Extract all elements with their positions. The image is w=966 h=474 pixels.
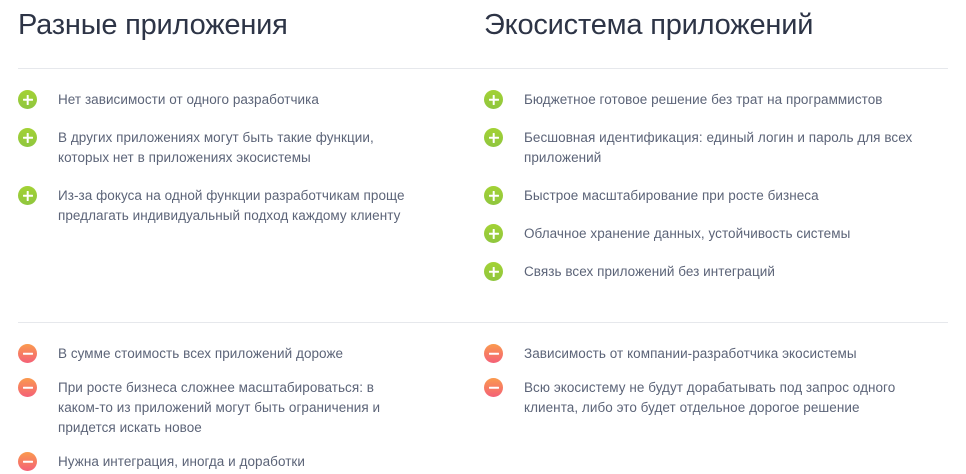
list-item: Нужна интеграция, иногда и доработки (18, 452, 466, 472)
list-item: Из-за фокуса на одной функции разработчи… (18, 186, 466, 226)
pros-list-app-ecosystem: Бюджетное готовое решение без трат на пр… (484, 90, 950, 282)
list-item-label: Зависимость от компании-разработчика эко… (524, 344, 857, 364)
divider-under-headings (18, 68, 948, 69)
list-item: При росте бизнеса сложнее масштабировать… (18, 378, 466, 438)
cons-list-app-ecosystem: Зависимость от компании-разработчика эко… (484, 344, 950, 474)
minus-circle-icon (484, 378, 503, 397)
list-item-label: Связь всех приложений без интеграций (524, 262, 775, 282)
list-item: Облачное хранение данных, устойчивость с… (484, 224, 950, 244)
minus-circle-icon (18, 452, 37, 471)
minus-circle-icon (484, 344, 503, 363)
list-item-label: Облачное хранение данных, устойчивость с… (524, 224, 850, 244)
column-header-different-apps: Разные приложения (18, 0, 484, 42)
plus-circle-icon (484, 90, 503, 109)
list-item: Бесшовная идентификация: единый логин и … (484, 128, 950, 168)
comparison-table: Разные приложения Экосистема приложений … (0, 0, 966, 474)
list-item-label: В других приложениях могут быть такие фу… (58, 128, 418, 168)
list-item-label: Бесшовная идентификация: единый логин и … (524, 128, 944, 168)
list-item-label: Быстрое масштабирование при росте бизнес… (524, 186, 819, 206)
plus-circle-icon (484, 186, 503, 205)
list-item: Всю экосистему не будут дорабатывать под… (484, 378, 950, 418)
list-item-label: При росте бизнеса сложнее масштабировать… (58, 378, 418, 438)
page-title-different-apps: Разные приложения (18, 0, 484, 42)
list-item: Зависимость от компании-разработчика эко… (484, 344, 950, 364)
column-header-app-ecosystem: Экосистема приложений (484, 0, 950, 42)
list-item-label: В сумме стоимость всех приложений дороже (58, 344, 343, 364)
minus-circle-icon (18, 344, 37, 363)
list-item: Быстрое масштабирование при росте бизнес… (484, 186, 950, 206)
list-item-label: Нет зависимости от одного разработчика (58, 90, 319, 110)
plus-circle-icon (484, 262, 503, 281)
plus-circle-icon (18, 90, 37, 109)
list-item-label: Из-за фокуса на одной функции разработчи… (58, 186, 418, 226)
plus-circle-icon (484, 224, 503, 243)
list-item: Связь всех приложений без интеграций (484, 262, 950, 282)
cons-list-different-apps: В сумме стоимость всех приложений дороже… (18, 344, 484, 474)
list-item: Нет зависимости от одного разработчика (18, 90, 466, 110)
pros-list-different-apps: Нет зависимости от одного разработчика В… (18, 90, 484, 282)
cons-section: В сумме стоимость всех приложений дороже… (0, 344, 966, 474)
divider-between-pros-and-cons (18, 322, 948, 323)
pros-section: Нет зависимости от одного разработчика В… (0, 90, 966, 282)
list-item: В других приложениях могут быть такие фу… (18, 128, 466, 168)
column-headings: Разные приложения Экосистема приложений (0, 0, 966, 68)
plus-circle-icon (18, 128, 37, 147)
list-item-label: Нужна интеграция, иногда и доработки (58, 452, 305, 472)
list-item: Бюджетное готовое решение без трат на пр… (484, 90, 950, 110)
list-item-label: Всю экосистему не будут дорабатывать под… (524, 378, 944, 418)
list-item: В сумме стоимость всех приложений дороже (18, 344, 466, 364)
list-item-label: Бюджетное готовое решение без трат на пр… (524, 90, 883, 110)
plus-circle-icon (484, 128, 503, 147)
minus-circle-icon (18, 378, 37, 397)
plus-circle-icon (18, 186, 37, 205)
page-title-app-ecosystem: Экосистема приложений (484, 0, 950, 42)
